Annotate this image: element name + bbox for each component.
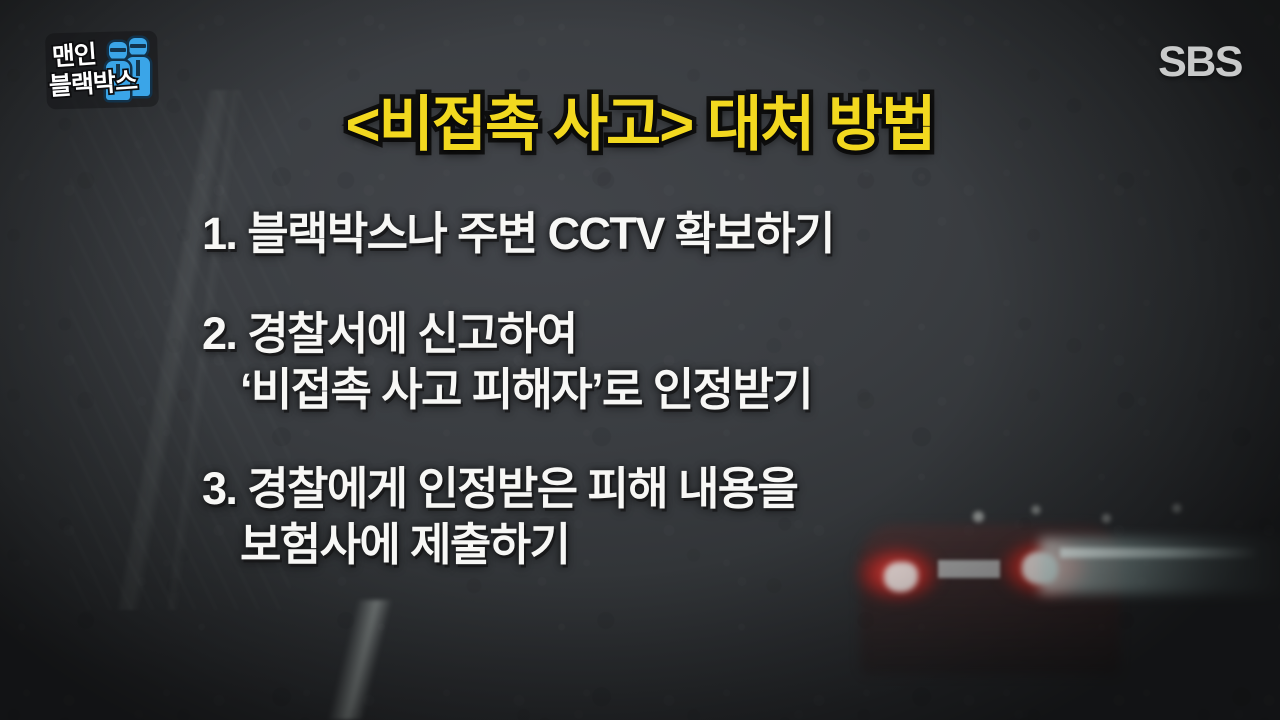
- sunglasses-icon-back: [130, 44, 146, 48]
- agent-tie-back: [136, 60, 140, 76]
- list-item: 1. 블랙박스나 주변 CCTV 확보하기: [0, 206, 1280, 262]
- step-3-line-1: 3. 경찰에게 인정받은 피해 내용을: [202, 461, 1280, 517]
- steps-list: 1. 블랙박스나 주변 CCTV 확보하기 2. 경찰서에 신고하여 ‘비접촉 …: [0, 206, 1280, 599]
- list-item: 2. 경찰서에 신고하여 ‘비접촉 사고 피해자’로 인정받기: [0, 306, 1280, 418]
- step-2-line-2: ‘비접촉 사고 피해자’로 인정받기: [240, 362, 1280, 418]
- program-logo-word-top: 맨인: [51, 42, 97, 70]
- step-1-line-1: 1. 블랙박스나 주변 CCTV 확보하기: [202, 206, 1280, 262]
- background-lane-marking: [150, 600, 570, 720]
- list-item: 3. 경찰에게 인정받은 피해 내용을 보험사에 제출하기: [0, 461, 1280, 573]
- step-2-line-1: 2. 경찰서에 신고하여: [202, 306, 1280, 362]
- page-title: <비접촉 사고> 대처 방법: [0, 92, 1280, 158]
- sunglasses-icon-front: [110, 48, 126, 52]
- broadcast-frame: 맨인 블랙박스 SBS <비접촉 사고> 대처 방법 1. 블랙박스나 주변 C…: [0, 0, 1280, 720]
- step-3-line-2: 보험사에 제출하기: [240, 517, 1280, 573]
- channel-watermark: SBS: [1158, 38, 1242, 87]
